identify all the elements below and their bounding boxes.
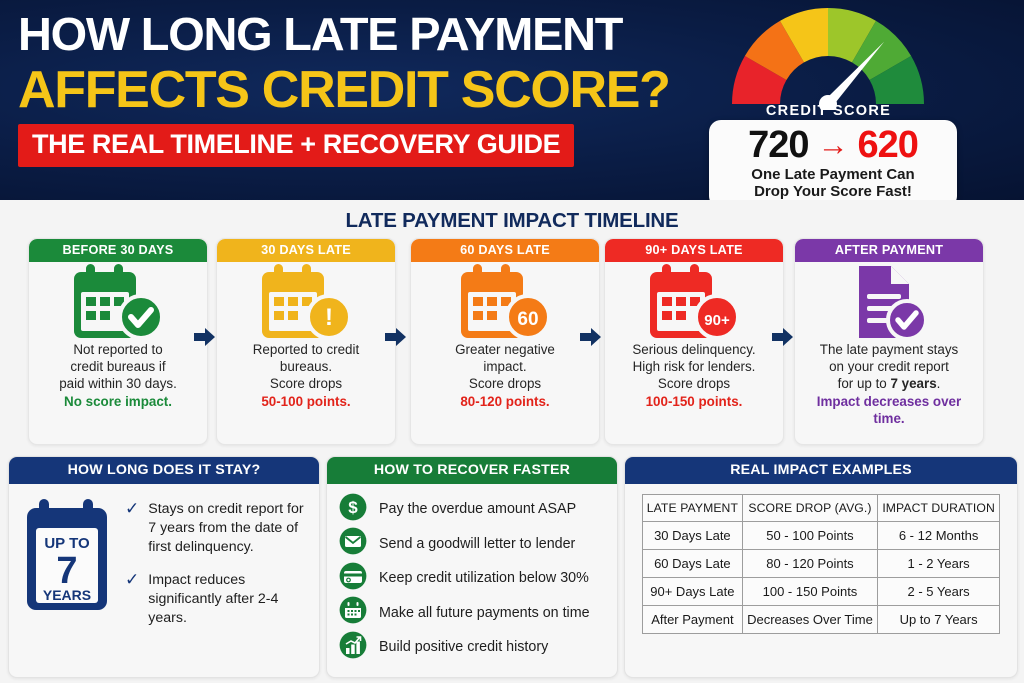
envelope-icon	[339, 527, 367, 560]
table-cell: 60 Days Late	[643, 550, 743, 578]
recover-list-item: Send a goodwill letter to lender	[339, 527, 617, 562]
recover-panel-title: HOW TO RECOVER FASTER	[327, 457, 617, 484]
timeline-card-text: Greater negativeimpact.Score drops80-120…	[447, 341, 563, 410]
document-check-icon	[841, 267, 937, 339]
impact-table-panel: REAL IMPACT EXAMPLES LATE PAYMENTSCORE D…	[624, 456, 1018, 678]
table-cell: 6 - 12 Months	[878, 522, 1000, 550]
how-long-list-item-text: Impact reduces significantly after 2-4 y…	[148, 571, 309, 628]
table-cell: 80 - 120 Points	[742, 550, 877, 578]
timeline-card-2: 30 DAYS LATE !Reported to creditbureaus.…	[216, 238, 396, 445]
table-column-header: LATE PAYMENT	[643, 495, 743, 522]
table-row: 60 Days Late80 - 120 Points1 - 2 Years	[643, 550, 1000, 578]
how-long-list-item: ✓Impact reduces significantly after 2-4 …	[125, 571, 309, 628]
timeline-card-text: Reported to creditbureaus.Score drops50-…	[245, 341, 367, 410]
calendar-check-icon	[70, 267, 166, 339]
table-body: 30 Days Late50 - 100 Points6 - 12 Months…	[643, 522, 1000, 634]
credit-score-gauge: CREDIT SCORE 720 → 620 One Late Payment …	[712, 4, 1012, 196]
recover-list-item-text: Make all future payments on time	[379, 605, 590, 621]
timeline-arrow-icon	[772, 327, 794, 347]
timeline-card-highlight: 50-100 points.	[261, 394, 350, 409]
dollar-icon: $	[339, 493, 367, 526]
title-block: HOW LONG LATE PAYMENT AFFECTS CREDIT SCO…	[18, 8, 704, 167]
recover-list-item-text: Keep credit utilization below 30%	[379, 570, 589, 586]
svg-text:60: 60	[517, 309, 538, 330]
subtitle-text: THE REAL TIMELINE + RECOVERY GUIDE	[32, 129, 560, 159]
check-icon: ✓	[125, 571, 139, 628]
timeline-card-text: Serious delinquency.High risk for lender…	[624, 341, 763, 410]
timeline-section-title: LATE PAYMENT IMPACT TIMELINE	[0, 209, 1024, 233]
recover-list-item-text: Build positive credit history	[379, 639, 548, 655]
table-row: 90+ Days Late100 - 150 Points2 - 5 Years	[643, 578, 1000, 606]
table-column-header: SCORE DROP (AVG.)	[742, 495, 877, 522]
infographic-page: HOW LONG LATE PAYMENT AFFECTS CREDIT SCO…	[0, 0, 1024, 683]
how-long-list-item: ✓Stays on credit report for 7 years from…	[125, 500, 309, 557]
timeline-card-4: 90+ DAYS LATE 90+Serious delinquency.Hig…	[604, 238, 784, 445]
old-score-value: 720	[748, 126, 808, 164]
timeline-card-header: 60 DAYS LATE	[411, 239, 599, 262]
calendar-warning-icon: !	[258, 267, 354, 339]
table-cell: Up to 7 Years	[878, 606, 1000, 634]
recover-list-item: Keep credit utilization below 30%	[339, 561, 617, 596]
new-score-value: 620	[858, 126, 918, 164]
svg-text:YEARS: YEARS	[43, 587, 91, 603]
table-row: 30 Days Late50 - 100 Points6 - 12 Months	[643, 522, 1000, 550]
table-cell: 100 - 150 Points	[742, 578, 877, 606]
score-caption-line-2: Drop Your Score Fast!	[717, 183, 949, 200]
gauge-svg	[720, 6, 936, 110]
timeline-card-1: BEFORE 30 DAYS Not reported tocredit bur…	[28, 238, 208, 445]
score-caption-line-1: One Late Payment Can	[717, 166, 949, 183]
header-banner: HOW LONG LATE PAYMENT AFFECTS CREDIT SCO…	[0, 0, 1024, 200]
recover-list-item-text: Pay the overdue amount ASAP	[379, 501, 576, 517]
table-cell: 1 - 2 Years	[878, 550, 1000, 578]
timeline-card-header: 30 DAYS LATE	[217, 239, 395, 262]
svg-text:$: $	[348, 498, 358, 517]
table-cell: After Payment	[643, 606, 743, 634]
timeline-card-highlight: Impact decreases over time.	[817, 394, 961, 426]
svg-text:90+: 90+	[704, 312, 730, 329]
recover-list-item: $Pay the overdue amount ASAP	[339, 492, 617, 527]
headline-line-1: HOW LONG LATE PAYMENT	[18, 8, 718, 60]
up-to-7-years-badge: UP TO 7 YEARS	[23, 496, 111, 642]
arrow-right-icon: →	[818, 129, 849, 160]
timeline-card-highlight: No score impact.	[64, 394, 172, 409]
bar-chart-icon	[339, 631, 367, 664]
timeline-card-highlight: 100-150 points.	[646, 394, 743, 409]
timeline-card-text: Not reported tocredit bureaus ifpaid wit…	[51, 341, 185, 410]
timeline-card-header: BEFORE 30 DAYS	[29, 239, 207, 262]
impact-table: LATE PAYMENTSCORE DROP (AVG.)IMPACT DURA…	[642, 494, 1000, 634]
how-long-panel-body: UP TO 7 YEARS ✓Stays on credit report fo…	[9, 484, 319, 642]
timeline-card-3: 60 DAYS LATE 60Greater negativeimpact.Sc…	[410, 238, 600, 445]
recover-list-item: Build positive credit history	[339, 630, 617, 665]
subtitle-banner: THE REAL TIMELINE + RECOVERY GUIDE	[18, 124, 574, 167]
calendar-7-years-icon: UP TO 7 YEARS	[23, 496, 111, 614]
timeline-card-5: AFTER PAYMENT The late payment stayson y…	[794, 238, 984, 445]
timeline-arrow-icon	[580, 327, 602, 347]
table-cell: 50 - 100 Points	[742, 522, 877, 550]
table-row: After PaymentDecreases Over TimeUp to 7 …	[643, 606, 1000, 634]
timeline-arrow-icon	[194, 327, 216, 347]
timeline-arrow-icon	[385, 327, 407, 347]
table-cell: 30 Days Late	[643, 522, 743, 550]
score-change-card: 720 → 620 One Late Payment Can Drop Your…	[709, 120, 957, 200]
table-cell: Decreases Over Time	[742, 606, 877, 634]
how-long-panel: HOW LONG DOES IT STAY? UP TO 7 YEARS ✓St…	[8, 456, 320, 678]
score-caption: One Late Payment Can Drop Your Score Fas…	[717, 166, 949, 200]
calendar-60-icon: 60	[457, 267, 553, 339]
recover-list-item-text: Send a goodwill letter to lender	[379, 536, 575, 552]
calendar-icon	[339, 596, 367, 629]
calendar-90-icon: 90+	[646, 267, 742, 339]
timeline-card-highlight: 80-120 points.	[460, 394, 549, 409]
how-long-list: ✓Stays on credit report for 7 years from…	[125, 496, 309, 642]
score-row: 720 → 620	[717, 126, 949, 164]
svg-text:!: !	[325, 304, 333, 331]
timeline-card-text: The late payment stayson your credit rep…	[795, 341, 983, 427]
timeline-card-header: AFTER PAYMENT	[795, 239, 983, 262]
how-long-list-item-text: Stays on credit report for 7 years from …	[148, 500, 309, 557]
timeline-card-header: 90+ DAYS LATE	[605, 239, 783, 262]
how-long-panel-title: HOW LONG DOES IT STAY?	[9, 457, 319, 484]
table-column-header: IMPACT DURATION	[878, 495, 1000, 522]
timeline-cards: BEFORE 30 DAYS Not reported tocredit bur…	[0, 238, 1024, 446]
impact-table-title: REAL IMPACT EXAMPLES	[625, 457, 1017, 484]
headline-line-2: AFFECTS CREDIT SCORE?	[18, 62, 704, 118]
svg-text:7: 7	[56, 550, 77, 592]
recover-list-item: Make all future payments on time	[339, 596, 617, 631]
credit-card-icon	[339, 562, 367, 595]
table-cell: 2 - 5 Years	[878, 578, 1000, 606]
recover-panel: HOW TO RECOVER FASTER $Pay the overdue a…	[326, 456, 618, 678]
check-icon: ✓	[125, 500, 139, 557]
table-cell: 90+ Days Late	[643, 578, 743, 606]
recover-list: $Pay the overdue amount ASAPSend a goodw…	[327, 484, 617, 665]
gauge-label: CREDIT SCORE	[712, 103, 945, 119]
table-header-row: LATE PAYMENTSCORE DROP (AVG.)IMPACT DURA…	[643, 495, 1000, 522]
